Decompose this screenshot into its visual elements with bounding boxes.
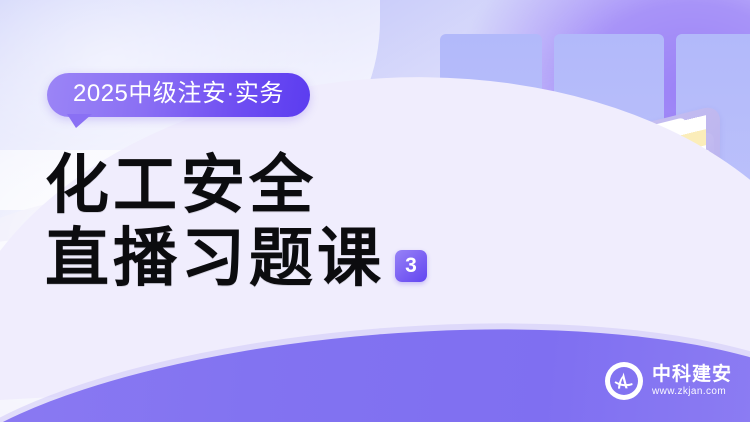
brand-text: 中科建安 www.zkjan.com — [652, 365, 732, 397]
headline: 化工安全 直播习题课 3 — [45, 150, 427, 296]
episode-badge: 3 — [395, 250, 427, 282]
zkjan-circle-logo-icon — [605, 362, 643, 400]
headline-line-2: 直播习题课 3 — [45, 223, 427, 296]
brand-name: 中科建安 — [652, 365, 732, 384]
course-banner: 2025中级注安·实务 化工安全 直播习题课 3 中科建安 www.zkjan.… — [0, 0, 750, 422]
headline-line-2-text: 直播习题课 — [45, 223, 385, 296]
headline-line-1-text: 化工安全 — [45, 150, 317, 221]
brand-logo: 中科建安 www.zkjan.com — [605, 362, 732, 400]
course-tag-tail-icon — [67, 114, 92, 128]
course-tag: 2025中级注安·实务 — [47, 73, 310, 117]
headline-line-1: 化工安全 — [45, 150, 427, 223]
course-tag-label: 2025中级注安·实务 — [47, 73, 310, 117]
brand-website: www.zkjan.com — [652, 387, 732, 397]
